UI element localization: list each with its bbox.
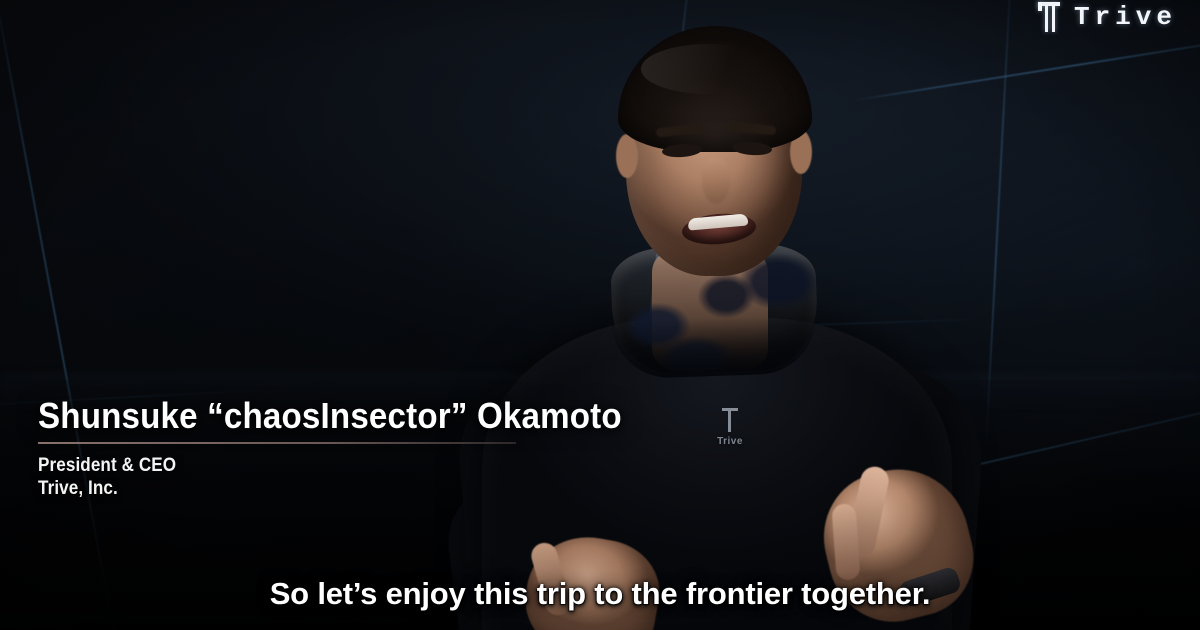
brand-letter: e (1156, 4, 1174, 30)
trive-logo-mark-icon (1038, 2, 1060, 32)
speaker-name: Shunsuke “chaosInsector” Okamoto (38, 396, 622, 436)
brand-letter: r (1095, 4, 1113, 30)
lower-third: Shunsuke “chaosInsector” Okamoto Preside… (38, 396, 673, 500)
subtitle-caption: So let’s enjoy this trip to the frontier… (0, 575, 1200, 613)
speaker-title: President & CEO (38, 454, 609, 477)
vignette-overlay (0, 0, 1200, 630)
brand-wordmark: T r i v e (1074, 4, 1174, 30)
speaker-company: Trive, Inc. (38, 477, 609, 500)
brand-logo: T r i v e (1038, 2, 1174, 32)
brand-letter: T (1074, 4, 1092, 30)
subtitle-text: So let’s enjoy this trip to the frontier… (270, 575, 931, 613)
video-frame: Trive T r i v e Shunsuke “chaosInsector”… (0, 0, 1200, 630)
lower-third-divider (38, 442, 516, 444)
brand-letter: v (1136, 4, 1154, 30)
brand-letter: i (1115, 4, 1133, 30)
